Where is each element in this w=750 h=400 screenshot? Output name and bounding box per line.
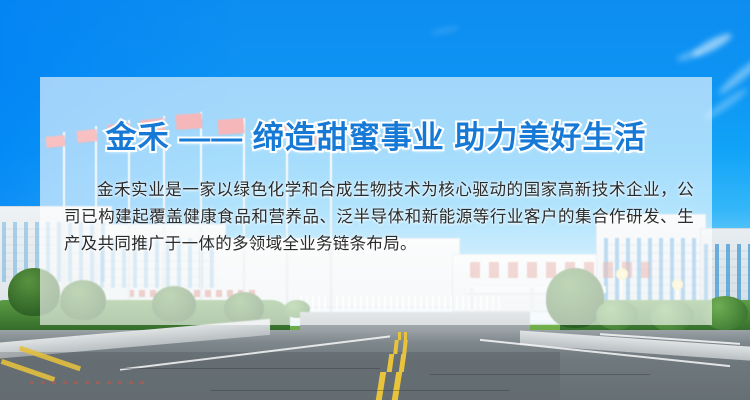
content-panel: 金禾 —— 缔造甜蜜事业 助力美好生活 金禾实业是一家以绿色化学和合成生物技术为… xyxy=(40,77,712,325)
page-title: 金禾 —— 缔造甜蜜事业 助力美好生活 xyxy=(40,119,712,157)
road-crack xyxy=(210,390,510,391)
road-shadow xyxy=(0,352,560,400)
road-crack xyxy=(120,368,380,369)
kerb-markers xyxy=(30,381,150,384)
road-crack xyxy=(430,374,650,375)
center-line xyxy=(398,332,401,340)
company-description: 金禾实业是一家以绿色化学和合成生物技术为核心驱动的国家高新技术企业，公司已构建起… xyxy=(64,177,694,258)
center-line xyxy=(404,332,407,340)
promo-banner: 金禾 —— 缔造甜蜜事业 助力美好生活 金禾实业是一家以绿色化学和合成生物技术为… xyxy=(0,0,750,400)
